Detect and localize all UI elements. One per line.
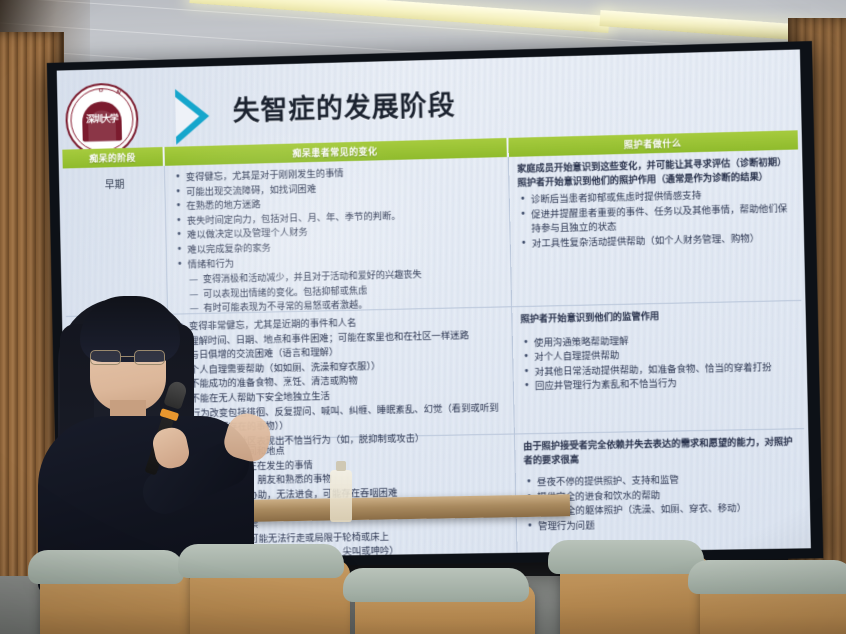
- auditorium-seat: [355, 584, 535, 634]
- list-item: 管理行为问题: [525, 516, 800, 535]
- auditorium-seat: [190, 560, 350, 634]
- slide-title: 失智症的发展阶段: [232, 83, 456, 128]
- chevron-right-icon: [175, 88, 210, 145]
- auditorium-seat: [560, 556, 710, 634]
- caregiver-lead: 家庭成员开始意识到这些变化，并可能让其寻求评估（诊断初期）照护者开始意识到他们的…: [517, 156, 793, 190]
- presenter: [28, 288, 288, 588]
- water-bottle: [330, 470, 352, 522]
- caregiver-lead: 照护者开始意识到他们的监管作用: [520, 307, 795, 327]
- auditorium-seat: [40, 566, 190, 634]
- university-logo-icon: 深圳大学 SHENZHEN UNIVERSITY: [65, 82, 139, 157]
- ceiling-light-icon: [189, 0, 609, 33]
- glasses-icon: [88, 350, 168, 365]
- auditorium-seat: [700, 576, 846, 634]
- caregiver-cell: 照护者开始意识到他们的监管作用 使用沟通策略帮助理解 对个人自理提供帮助 对其他…: [512, 301, 804, 434]
- lecture-hall-photo: 深圳大学 SHENZHEN UNIVERSITY 失智症的发展阶段 痴呆的阶段 …: [0, 0, 846, 634]
- caregiver-lead: 由于照护接受者完全依赖并失去表达的需求和愿望的能力，对照护者的要求很高: [523, 435, 799, 467]
- caregiver-cell: 家庭成员开始意识到这些变化，并可能让其寻求评估（诊断初期）照护者开始意识到他们的…: [509, 149, 801, 306]
- logo-english-text: SHENZHEN UNIVERSITY: [67, 84, 137, 155]
